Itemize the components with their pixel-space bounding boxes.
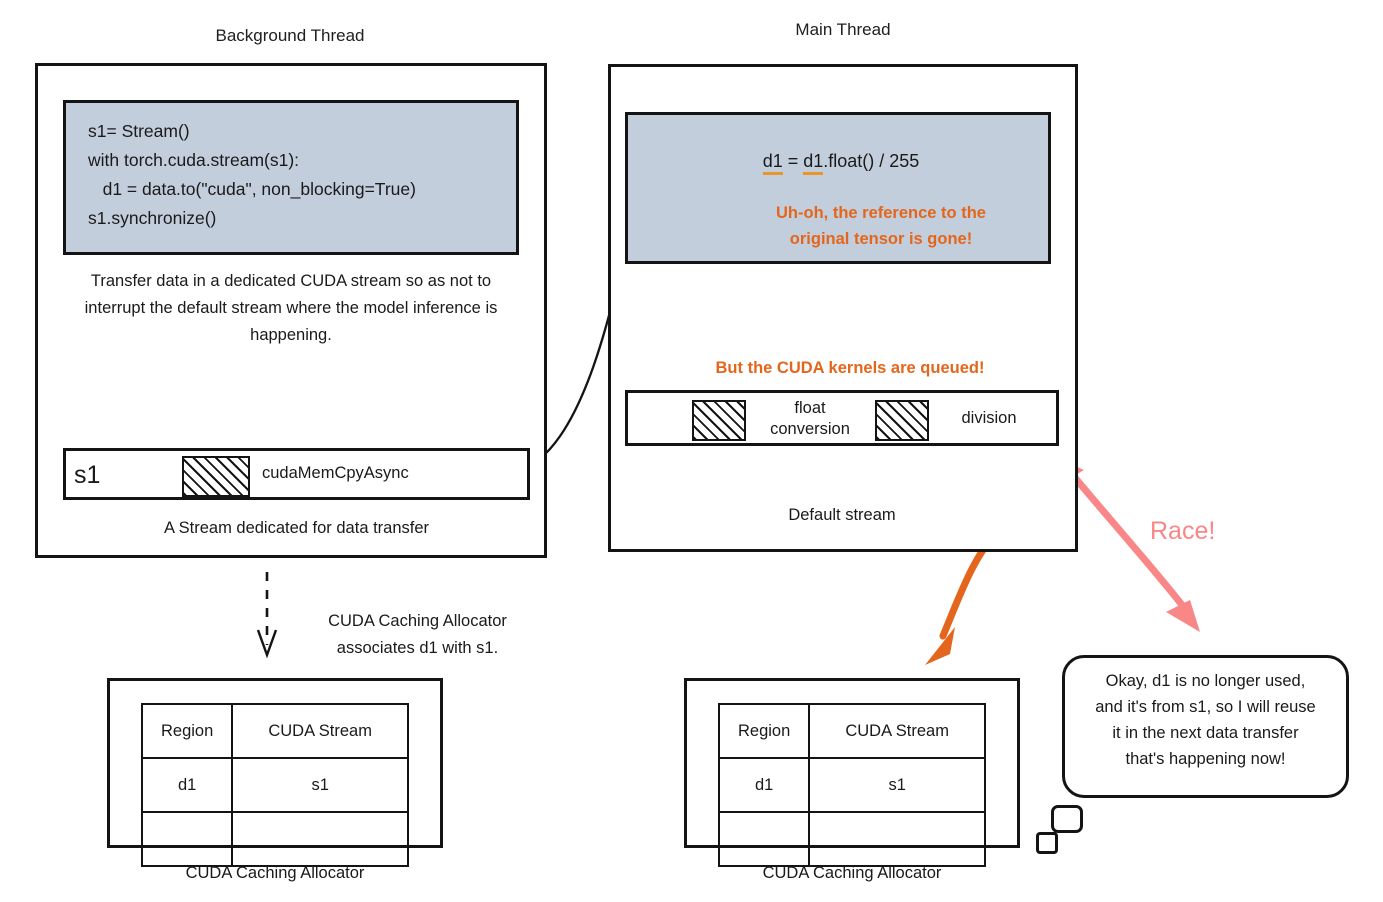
float-conversion-line-1: float bbox=[756, 398, 864, 419]
code-token-d1-rhs: d1 bbox=[803, 151, 823, 175]
bubble-line-3: it in the next data transfer bbox=[1077, 720, 1334, 746]
main-thread-code-line: d1 = d1.float() / 255 bbox=[628, 151, 1054, 172]
allocator-note-line-2: associates d1 with s1. bbox=[290, 635, 545, 662]
background-thread-code-box: s1= Stream() with torch.cuda.stream(s1):… bbox=[63, 100, 519, 255]
allocator-association-note: CUDA Caching Allocator associates d1 wit… bbox=[290, 608, 545, 662]
code-line-3: d1 = data.to("cuda", non_blocking=True) bbox=[88, 175, 516, 204]
header-cuda-stream: CUDA Stream bbox=[232, 704, 408, 758]
race-label: Race! bbox=[1150, 517, 1215, 546]
code-line-1: s1= Stream() bbox=[88, 117, 516, 146]
s1-stream-name: s1 bbox=[74, 461, 100, 490]
table-row bbox=[719, 812, 985, 866]
default-stream-bar: float conversion division bbox=[625, 390, 1059, 446]
bubble-line-2: and it's from s1, so I will reuse bbox=[1077, 694, 1334, 720]
code-line-4: s1.synchronize() bbox=[88, 204, 516, 233]
header-region: Region bbox=[719, 704, 809, 758]
speech-bubble-tail-small bbox=[1036, 832, 1058, 854]
reference-gone-warning: Uh-oh, the reference to the original ten… bbox=[731, 200, 1031, 252]
code-token-d1-lhs: d1 bbox=[763, 151, 783, 175]
cell-stream-0: s1 bbox=[809, 758, 985, 812]
bubble-line-4: that's happening now! bbox=[1077, 746, 1334, 772]
header-cuda-stream: CUDA Stream bbox=[809, 704, 985, 758]
cell-region-1 bbox=[719, 812, 809, 866]
division-kernel-block bbox=[875, 400, 929, 441]
background-thread-caption: Transfer data in a dedicated CUDA stream… bbox=[60, 268, 522, 349]
allocator-left-caption: CUDA Caching Allocator bbox=[107, 860, 443, 887]
cell-stream-1 bbox=[232, 812, 408, 866]
allocator-left-box: Region CUDA Stream d1 s1 bbox=[107, 678, 443, 848]
table-row: d1 s1 bbox=[719, 758, 985, 812]
float-conversion-line-2: conversion bbox=[756, 419, 864, 440]
code-tail: .float() / 255 bbox=[823, 151, 919, 171]
division-label: division bbox=[939, 408, 1039, 429]
warning-line-2: original tensor is gone! bbox=[731, 226, 1031, 252]
background-thread-title: Background Thread bbox=[35, 26, 545, 46]
float-conversion-kernel-block bbox=[692, 400, 746, 441]
allocator-right-caption: CUDA Caching Allocator bbox=[684, 860, 1020, 887]
allocator-right-box: Region CUDA Stream d1 s1 bbox=[684, 678, 1020, 848]
main-thread-code-box: d1 = d1.float() / 255 Uh-oh, the referen… bbox=[625, 112, 1051, 264]
speech-bubble-text: Okay, d1 is no longer used, and it's fro… bbox=[1065, 658, 1346, 782]
bubble-line-1: Okay, d1 is no longer used, bbox=[1077, 668, 1334, 694]
table-row bbox=[142, 812, 408, 866]
table-row: d1 s1 bbox=[142, 758, 408, 812]
cell-region-0: d1 bbox=[719, 758, 809, 812]
warning-line-1: Uh-oh, the reference to the bbox=[731, 200, 1031, 226]
cell-stream-1 bbox=[809, 812, 985, 866]
cudamemcpyasync-label: cudaMemCpyAsync bbox=[262, 464, 409, 483]
code-equals: = bbox=[783, 151, 804, 171]
allocator-left-table: Region CUDA Stream d1 s1 bbox=[141, 703, 409, 867]
s1-stream-bar: s1 cudaMemCpyAsync bbox=[63, 448, 530, 500]
allocator-note-line-1: CUDA Caching Allocator bbox=[290, 608, 545, 635]
header-region: Region bbox=[142, 704, 232, 758]
default-stream-caption: Default stream bbox=[625, 502, 1059, 529]
kernels-queued-note: But the CUDA kernels are queued! bbox=[640, 355, 1060, 381]
s1-stream-caption: A Stream dedicated for data transfer bbox=[63, 515, 530, 542]
cudamemcpyasync-kernel-block bbox=[182, 456, 250, 497]
cell-region-0: d1 bbox=[142, 758, 232, 812]
float-conversion-label: float conversion bbox=[756, 398, 864, 440]
allocator-speech-bubble: Okay, d1 is no longer used, and it's fro… bbox=[1062, 655, 1349, 798]
table-header-row: Region CUDA Stream bbox=[719, 704, 985, 758]
division-line-1: division bbox=[939, 408, 1039, 429]
dashed-arrow-to-allocator bbox=[258, 572, 276, 655]
speech-bubble-tail-large bbox=[1051, 805, 1083, 833]
cell-region-1 bbox=[142, 812, 232, 866]
allocator-right-table: Region CUDA Stream d1 s1 bbox=[718, 703, 986, 867]
cell-stream-0: s1 bbox=[232, 758, 408, 812]
main-thread-title: Main Thread bbox=[608, 20, 1078, 40]
table-header-row: Region CUDA Stream bbox=[142, 704, 408, 758]
code-line-2: with torch.cuda.stream(s1): bbox=[88, 146, 516, 175]
